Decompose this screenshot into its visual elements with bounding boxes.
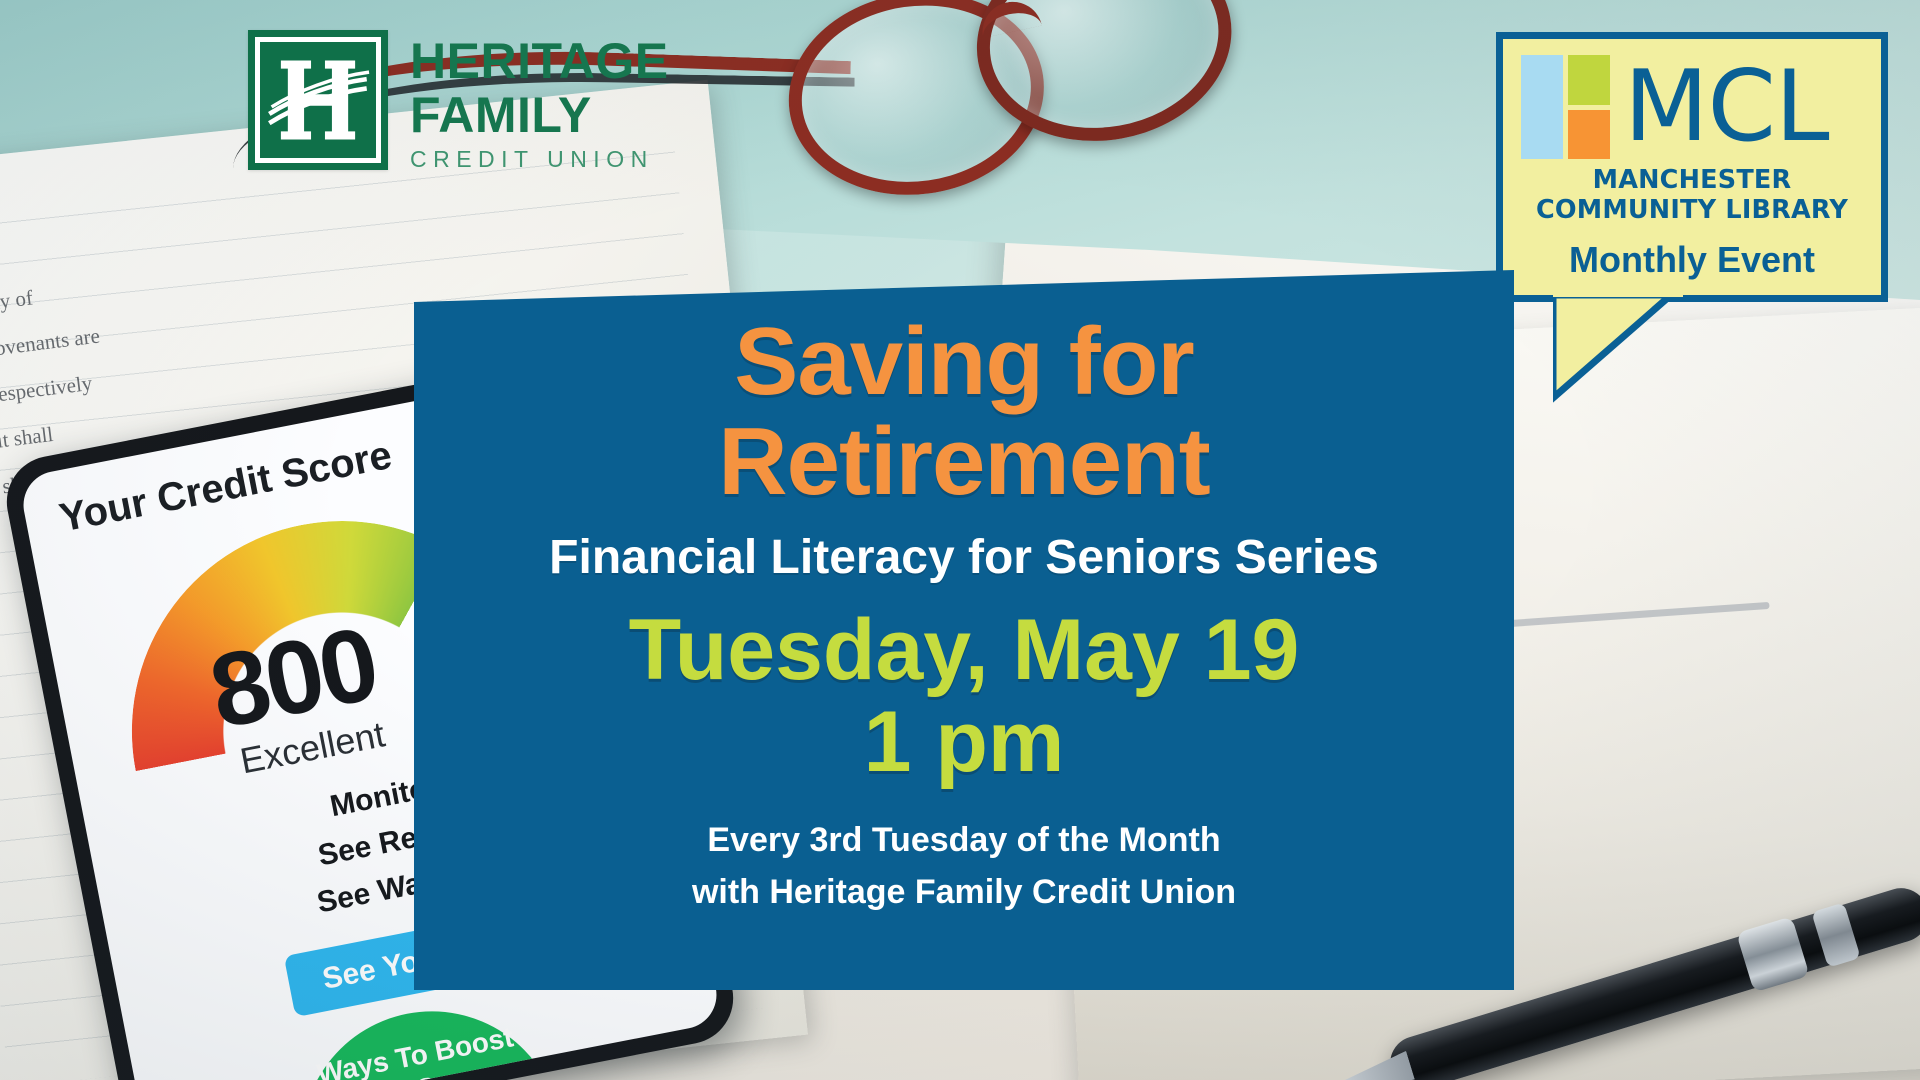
event-title-line-1: Saving for <box>454 312 1474 412</box>
event-info-content: Saving for Retirement Financial Literacy… <box>414 270 1514 918</box>
event-footer-line-1: Every 3rd Tuesday of the Month <box>454 814 1474 866</box>
event-info-panel: Saving for Retirement Financial Literacy… <box>414 270 1514 990</box>
mcl-letters: MCL <box>1624 58 1829 156</box>
mcl-logo-bubble: MCL MANCHESTER COMMUNITY LIBRARY Monthly… <box>1496 32 1888 302</box>
heritage-h-icon <box>260 42 376 158</box>
heritage-family-logo: HERITAGE FAMILY CREDIT UNION <box>248 30 669 176</box>
event-footer-line-2: with Heritage Family Credit Union <box>454 866 1474 918</box>
mcl-logo-row: MCL <box>1521 55 1863 159</box>
event-datetime: Tuesday, May 19 1 pm <box>454 604 1474 788</box>
speech-bubble-tail <box>1553 295 1753 405</box>
mcl-block-blue-icon <box>1521 55 1563 159</box>
mcl-block-column <box>1568 55 1610 159</box>
mcl-color-blocks <box>1521 55 1610 159</box>
heritage-logo-line-1: HERITAGE <box>410 34 669 88</box>
mcl-subtitle: MANCHESTER COMMUNITY LIBRARY <box>1521 165 1863 225</box>
heritage-logo-mark-inner <box>255 37 381 163</box>
event-time: 1 pm <box>454 696 1474 788</box>
event-series-subtitle: Financial Literacy for Seniors Series <box>454 530 1474 586</box>
heritage-logo-text: HERITAGE FAMILY CREDIT UNION <box>410 30 669 176</box>
event-date: Tuesday, May 19 <box>454 604 1474 696</box>
event-title: Saving for Retirement <box>454 312 1474 512</box>
mcl-logo-panel: MCL MANCHESTER COMMUNITY LIBRARY Monthly… <box>1496 32 1888 302</box>
heritage-logo-mark <box>248 30 388 170</box>
event-title-line-2: Retirement <box>454 412 1474 512</box>
mcl-block-green-icon <box>1568 55 1610 105</box>
event-footer: Every 3rd Tuesday of the Month with Heri… <box>454 814 1474 918</box>
mcl-monthly-event-label: Monthly Event <box>1521 239 1863 281</box>
speech-bubble-tail-icon <box>1553 295 1753 405</box>
mcl-block-orange-icon <box>1568 110 1610 159</box>
heritage-logo-line-3: CREDIT UNION <box>410 142 669 176</box>
event-poster: ION ZIP Code day of covenants are respec… <box>0 0 1920 1080</box>
heritage-logo-line-2: FAMILY <box>410 88 669 142</box>
